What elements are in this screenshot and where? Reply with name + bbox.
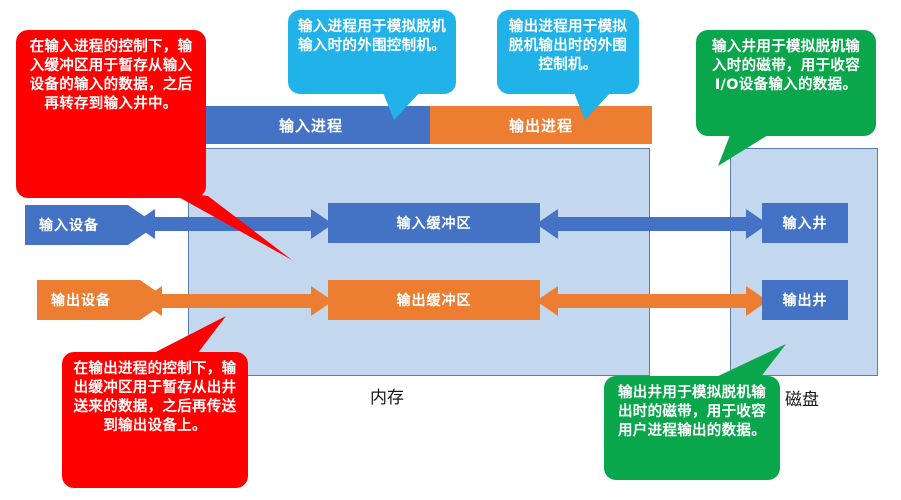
node-input-buffer[interactable]: 输入缓冲区 <box>328 203 540 243</box>
connector-input-buffer-well <box>536 207 768 241</box>
callout-text: 在输入进程的控制下，输入缓冲区用于暂存从输入设备的输入的数据，之后再转存到输入井… <box>30 39 193 112</box>
callout-text: 输出进程用于模拟脱机输出时的外围控制机。 <box>509 19 627 73</box>
callout-input-buffer-note: 在输入进程的控制下，输入缓冲区用于暂存从输入设备的输入的数据，之后再转存到输入井… <box>16 30 206 198</box>
callout-text: 输入进程用于模拟脱机输入时的外围控制机。 <box>298 19 446 54</box>
callout-tail <box>132 316 228 360</box>
node-input-well[interactable]: 输入井 <box>762 203 848 243</box>
diagram-canvas: 内存 磁盘 输入进程 输出进程 输入设备 输出设备 输入缓冲区 输出缓冲区 输入… <box>0 0 901 500</box>
callout-tail <box>718 130 780 168</box>
callout-text: 在输出进程的控制下，输出缓冲区用于暂存从出井送来的数据，之后再传送到输出设备上。 <box>74 361 237 434</box>
disk-label: 磁盘 <box>785 385 819 410</box>
callout-input-process-note: 输入进程用于模拟脱机输入时的外围控制机。 <box>288 10 456 94</box>
memory-label: 内存 <box>370 383 404 408</box>
node-output-buffer[interactable]: 输出缓冲区 <box>328 280 540 320</box>
disk-container <box>730 148 878 376</box>
connector-output-well-buffer <box>536 284 768 318</box>
callout-tail <box>382 90 428 120</box>
callout-input-well-note: 输入井用于模拟脱机输入时的磁带，用于收容I/O设备输入的数据。 <box>696 30 876 136</box>
callout-output-process-note: 输出进程用于模拟脱机输出时的外围控制机。 <box>497 10 639 94</box>
callout-tail <box>573 90 619 120</box>
callout-tail <box>698 344 788 382</box>
callout-text: 输入井用于模拟脱机输入时的磁带，用于收容I/O设备输入的数据。 <box>712 39 860 93</box>
callout-output-well-note: 输出井用于模拟脱机输出时的磁带，用于收容用户进程输出的数据。 <box>604 376 780 480</box>
callout-text: 输出井用于模拟脱机输出时的磁带，用于收容用户进程输出的数据。 <box>618 385 766 439</box>
node-output-well[interactable]: 输出井 <box>762 280 848 320</box>
connector-output-buffer-device <box>140 284 333 318</box>
callout-tail <box>166 190 296 266</box>
callout-output-buffer-note: 在输出进程的控制下，输出缓冲区用于暂存从出井送来的数据，之后再传送到输出设备上。 <box>62 352 248 488</box>
